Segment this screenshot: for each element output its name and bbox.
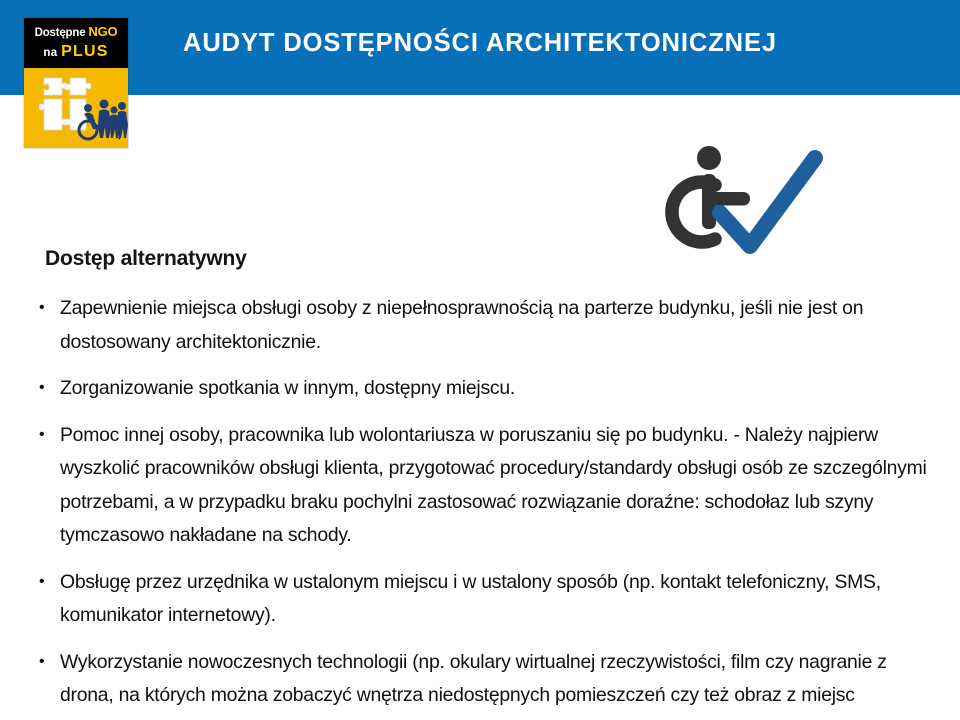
list-item: Zorganizowanie spotkania w innym, dostęp… (34, 372, 940, 406)
alternative-access-bullet-list: Zapewnienie miejsca obsługi osoby z niep… (34, 292, 940, 720)
list-item: Obsługę przez urzędnika w ustalonym miej… (34, 566, 940, 633)
logo-line-1-highlight: NGO (88, 24, 117, 39)
list-item: Pomoc innej osoby, pracownika lub wolont… (34, 419, 940, 553)
logo-line-2-prefix: na (43, 47, 61, 59)
logo-line-1-prefix: Dostępne (35, 27, 89, 39)
logo-line-2-highlight: PLUS (61, 43, 108, 60)
wheelchair-check-icon (658, 136, 828, 254)
list-item: Wykorzystanie nowoczesnych technologii (… (34, 646, 940, 720)
logo-line-1: Dostępne NGO (24, 24, 128, 39)
slide-canvas: AUDYT DOSTĘPNOŚCI ARCHITEKTONICZNEJ Dost… (0, 0, 960, 720)
logo-line-2: na PLUS (24, 43, 128, 61)
list-item: Zapewnienie miejsca obsługi osoby z niep… (34, 292, 940, 359)
logo-puzzle-people-artwork (24, 68, 128, 148)
page-title: AUDYT DOSTĘPNOŚCI ARCHITEKTONICZNEJ (183, 27, 883, 59)
section-heading: Dostęp alternatywny (45, 247, 247, 271)
organization-logo: Dostępne NGO na PLUS (24, 18, 128, 148)
